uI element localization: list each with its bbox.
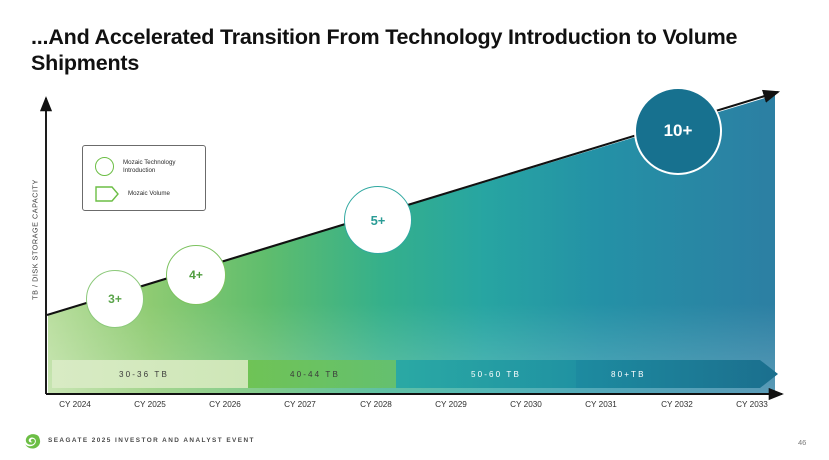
slide-root: ...And Accelerated Transition From Techn… <box>0 0 829 460</box>
x-tick-label: CY 2030 <box>496 400 556 409</box>
footer-text: SEAGATE 2025 INVESTOR AND ANALYST EVENT <box>48 437 255 444</box>
milestone-node-4plus: 4+ <box>166 245 226 305</box>
seagate-spiral-logo-icon <box>22 432 42 452</box>
x-tick-label: CY 2031 <box>571 400 631 409</box>
milestone-node-5plus: 5+ <box>344 186 412 254</box>
capacity-trend-chart <box>0 0 829 460</box>
milestone-node-3plus: 3+ <box>86 270 144 328</box>
milestone-node-10plus: 10+ <box>634 87 722 175</box>
y-axis-label: TB / DISK STORAGE CAPACITY <box>31 155 40 325</box>
capacity-band-label-3: 50-60 TB <box>471 370 521 379</box>
capacity-band-label-4: 80+TB <box>611 370 646 379</box>
x-tick-label: CY 2024 <box>45 400 105 409</box>
x-tick-label: CY 2033 <box>722 400 782 409</box>
x-tick-label: CY 2026 <box>195 400 255 409</box>
chart-legend: Mozaic Technology Introduction Mozaic Vo… <box>82 145 206 211</box>
capacity-band-4 <box>576 360 778 388</box>
x-tick-label: CY 2032 <box>647 400 707 409</box>
page-number: 46 <box>798 438 806 447</box>
legend-item-technology-introduction: Mozaic Technology Introduction <box>95 157 205 176</box>
legend-item-label: Mozaic Volume <box>128 190 170 198</box>
legend-item-volume: Mozaic Volume <box>95 186 170 202</box>
arrow-pentagon-outline-icon <box>95 186 119 202</box>
x-tick-label: CY 2027 <box>270 400 330 409</box>
x-tick-label: CY 2025 <box>120 400 180 409</box>
legend-item-label: Mozaic Technology Introduction <box>123 159 205 175</box>
x-tick-label: CY 2028 <box>346 400 406 409</box>
capacity-band-label-1: 30-36 TB <box>119 370 169 379</box>
x-tick-label: CY 2029 <box>421 400 481 409</box>
circle-outline-icon <box>95 157 114 176</box>
capacity-band-label-2: 40-44 TB <box>290 370 340 379</box>
